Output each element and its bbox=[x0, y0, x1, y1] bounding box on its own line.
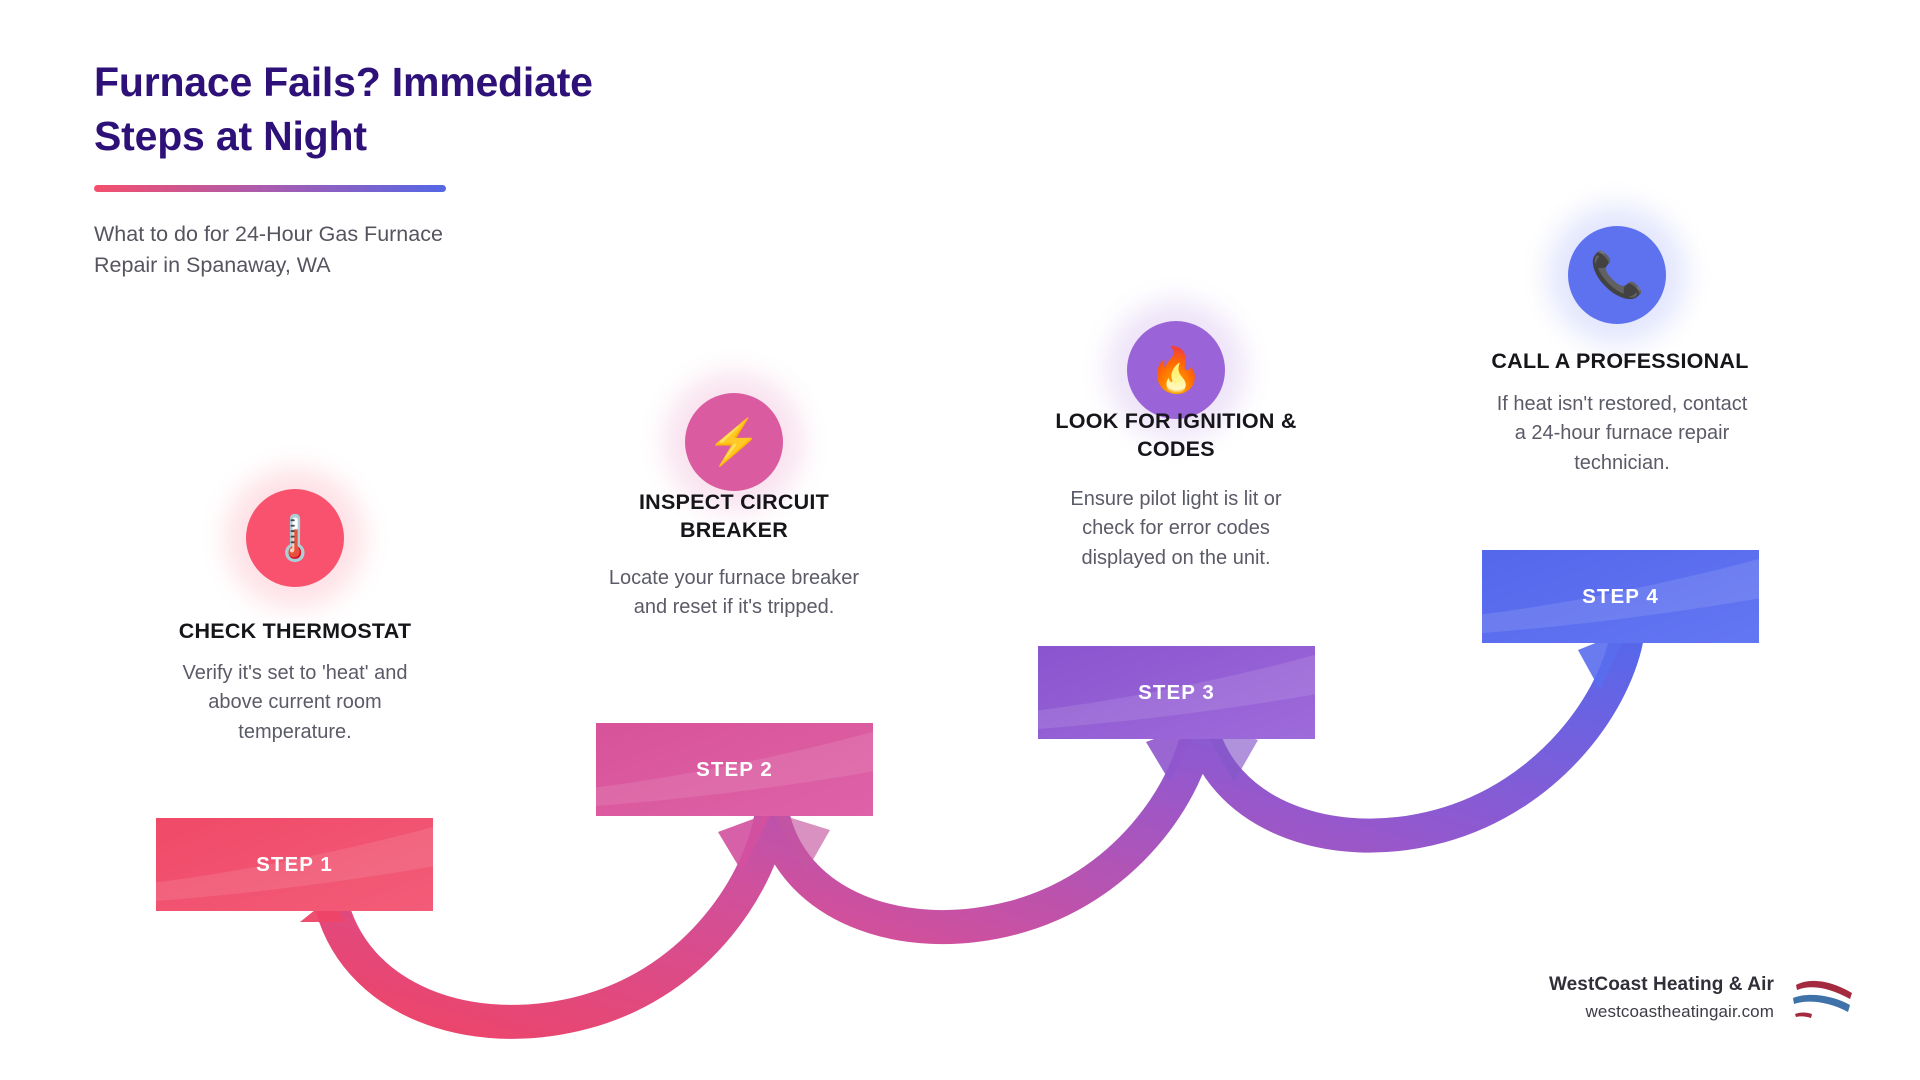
page-title: Furnace Fails? Immediate Steps at Night bbox=[94, 55, 814, 163]
step-badge-3[interactable]: STEP 3 bbox=[1038, 646, 1315, 739]
step-badge-label-4: STEP 4 bbox=[1582, 585, 1659, 609]
step-heading-1: CHECK THERMOSTAT bbox=[123, 618, 467, 646]
fire-icon-glyph: 🔥 bbox=[1149, 349, 1204, 393]
page-subtitle: What to do for 24-Hour Gas Furnace Repai… bbox=[94, 219, 814, 280]
title-accent-bar bbox=[94, 185, 446, 192]
step-badge-4[interactable]: STEP 4 bbox=[1482, 550, 1759, 643]
brand-url: westcoastheatingair.com bbox=[1549, 1002, 1774, 1022]
step-badge-1[interactable]: STEP 1 bbox=[156, 818, 433, 911]
brand-name: WestCoast Heating & Air bbox=[1549, 974, 1774, 996]
infographic-canvas: Furnace Fails? Immediate Steps at Night … bbox=[0, 0, 1920, 1080]
lightning-bolt-icon: ⚡ bbox=[685, 393, 783, 491]
step-description-2: Locate your furnace breaker and reset if… bbox=[570, 564, 898, 623]
step-badge-label-1: STEP 1 bbox=[256, 853, 333, 877]
step-description-4: If heat isn't restored, contact a 24-hou… bbox=[1462, 390, 1782, 478]
step-badge-2[interactable]: STEP 2 bbox=[596, 723, 873, 816]
step-badge-label-2: STEP 2 bbox=[696, 758, 773, 782]
step-description-1: Verify it's set to 'heat' and above curr… bbox=[137, 659, 453, 747]
step-description-3: Ensure pilot light is lit or check for e… bbox=[1016, 485, 1336, 573]
brand-footer: WestCoast Heating & Air westcoastheating… bbox=[1549, 971, 1856, 1025]
step-heading-4: CALL A PROFESSIONAL bbox=[1448, 348, 1792, 376]
step-heading-3: LOOK FOR IGNITION & CODES bbox=[1004, 408, 1348, 463]
step-heading-2: INSPECT CIRCUIT BREAKER bbox=[562, 489, 906, 544]
header-block: Furnace Fails? Immediate Steps at Night … bbox=[94, 55, 814, 280]
thermometer-icon-glyph: 🌡️ bbox=[268, 517, 323, 561]
brand-text-block: WestCoast Heating & Air westcoastheating… bbox=[1549, 974, 1774, 1022]
telephone-icon: 📞 bbox=[1568, 226, 1666, 324]
step-badge-label-3: STEP 3 bbox=[1138, 681, 1215, 705]
brand-logo-icon bbox=[1792, 971, 1856, 1025]
thermometer-icon: 🌡️ bbox=[246, 489, 344, 587]
fire-icon: 🔥 bbox=[1127, 321, 1225, 419]
lightning-bolt-icon-glyph: ⚡ bbox=[707, 421, 762, 465]
telephone-icon-glyph: 📞 bbox=[1590, 254, 1645, 298]
